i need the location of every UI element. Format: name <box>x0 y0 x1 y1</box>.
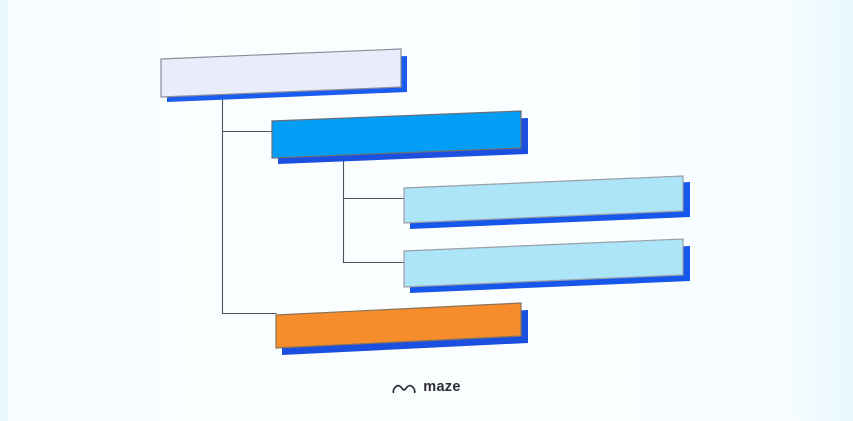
node-branch-highlight[interactable] <box>276 303 528 355</box>
maze-wordmark: maze <box>423 380 460 395</box>
brand-watermark: maze <box>0 374 853 400</box>
node-root[interactable] <box>161 49 407 102</box>
node-leaf-second[interactable] <box>404 239 690 293</box>
diagram-canvas: maze <box>0 0 853 421</box>
connector-primary-trunk <box>344 157 405 263</box>
node-leaf-first[interactable] <box>404 176 690 229</box>
maze-mountain-icon <box>392 380 416 395</box>
connector-root-trunk <box>223 95 277 314</box>
diagram-svg <box>0 0 853 421</box>
node-branch-primary[interactable] <box>272 111 528 164</box>
